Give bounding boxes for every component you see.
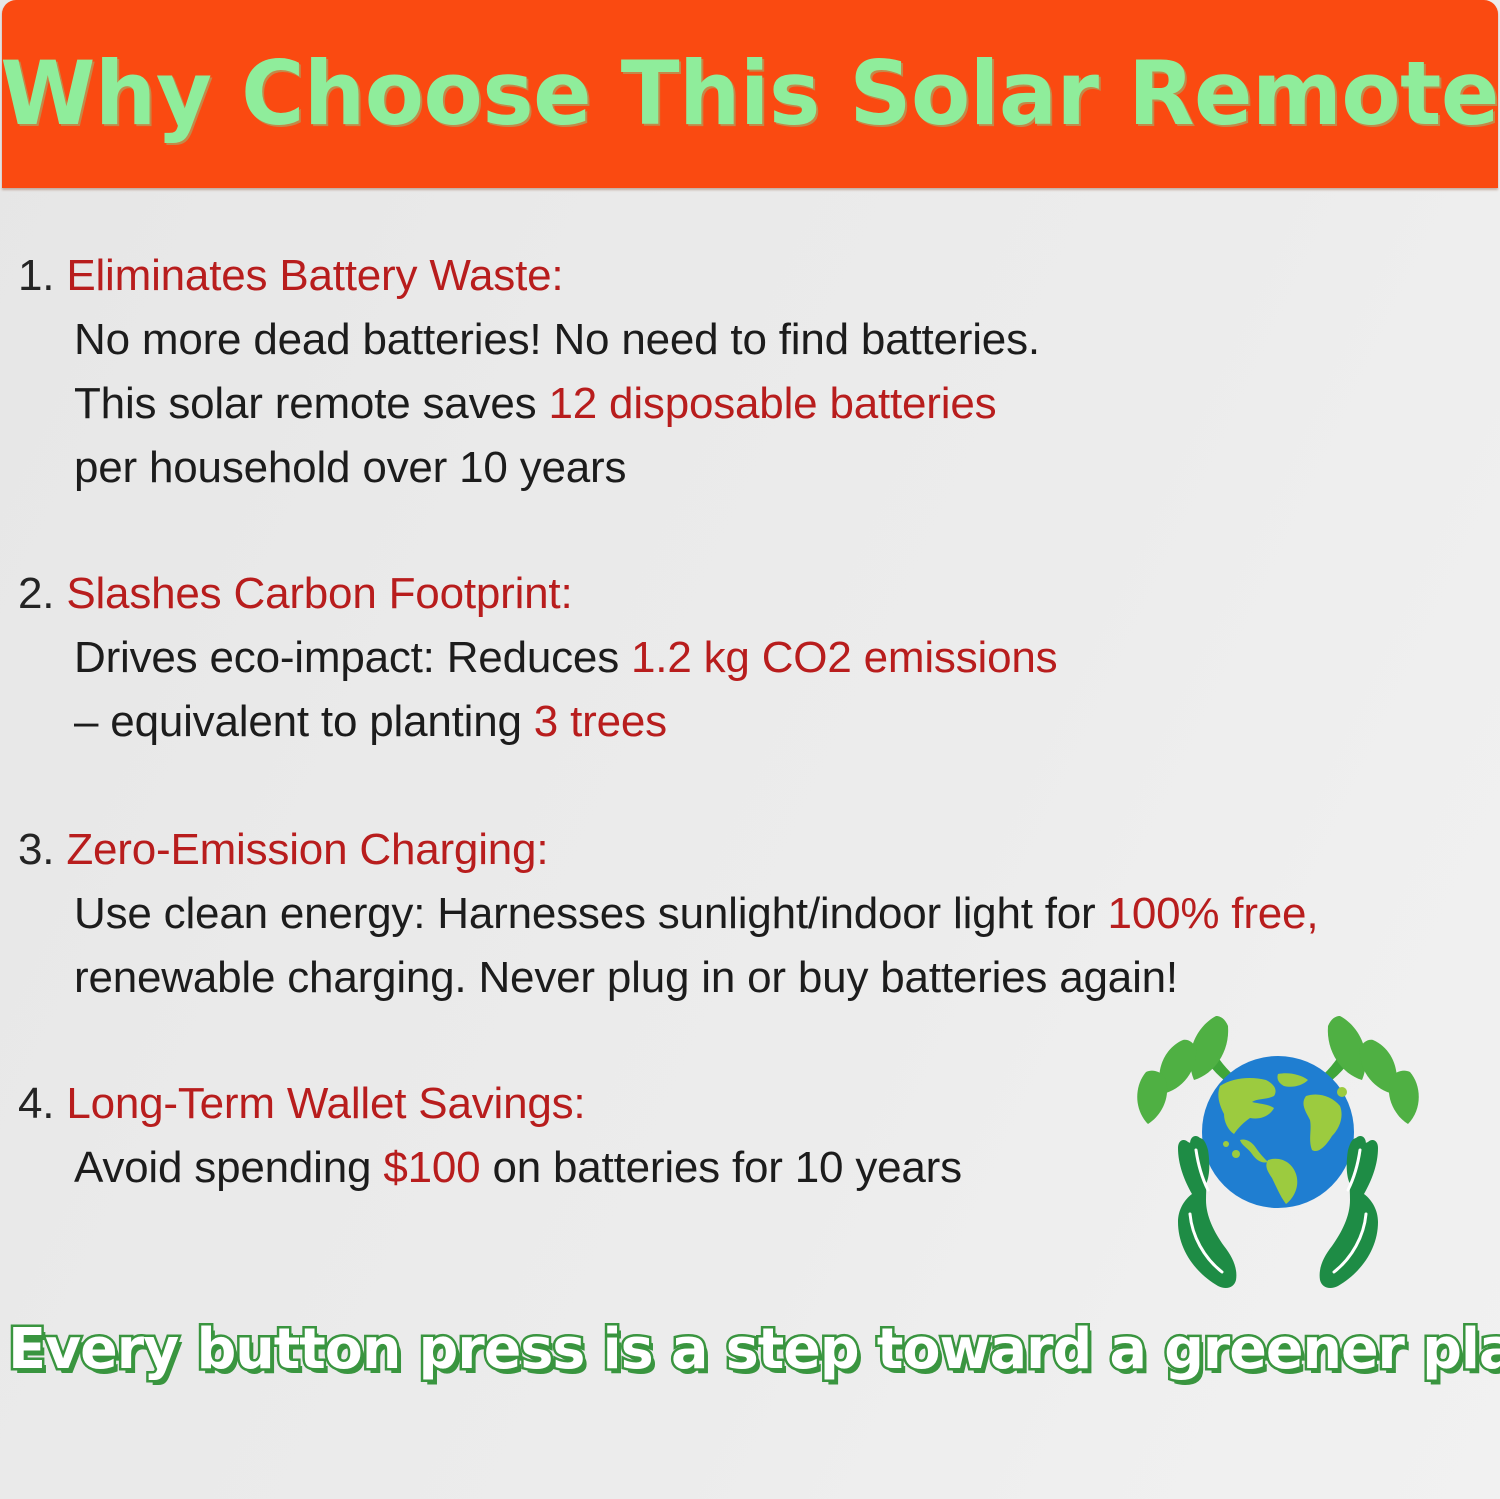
benefit-highlight: 100% free, [1108,889,1319,938]
benefit-text: – equivalent to planting [74,697,534,746]
benefit-number: 1. [18,251,54,300]
benefit-heading-text: Zero-Emission Charging: [66,825,548,874]
benefit-item-3: 3. Zero-Emission Charging: Use clean ene… [18,818,1488,1010]
benefit-number: 3. [18,825,54,874]
benefit-text: renewable charging. Never plug in or buy… [74,953,1178,1002]
header-banner: Why Choose This Solar Remote [2,0,1498,188]
benefit-heading: 1. Eliminates Battery Waste: [18,244,1488,308]
benefit-heading-text: Eliminates Battery Waste: [66,251,563,300]
benefit-line: No more dead batteries! No need to find … [18,308,1488,372]
benefit-line: Use clean energy: Harnesses sunlight/ind… [18,882,1488,946]
page-title: Why Choose This Solar Remote [1,50,1500,138]
footer-tagline: Every button press is a step toward a gr… [0,1318,1500,1382]
benefit-text: This solar remote saves [74,379,548,428]
benefit-number: 4. [18,1079,54,1128]
benefit-heading: 2. Slashes Carbon Footprint: [18,562,1488,626]
benefit-line: renewable charging. Never plug in or buy… [18,946,1488,1010]
earth-in-hands-icon [1128,1004,1428,1294]
benefit-heading-text: Slashes Carbon Footprint: [66,569,572,618]
footer-tagline-text: Every button press is a step toward a gr… [8,1318,1500,1382]
benefit-highlight: 1.2 kg CO2 emissions [631,633,1057,682]
globe-icon [1202,1056,1354,1208]
benefit-item-2: 2. Slashes Carbon Footprint: Drives eco-… [18,562,1488,754]
infographic-poster: Why Choose This Solar Remote 1. Eliminat… [0,0,1500,1499]
benefits-list: 1. Eliminates Battery Waste: No more dea… [0,188,1500,1499]
benefit-line: – equivalent to planting 3 trees [18,690,1488,754]
benefit-text: Avoid spending [74,1143,383,1192]
benefit-text: per household over 10 years [74,443,626,492]
benefit-text: on batteries for 10 years [480,1143,962,1192]
benefit-heading-text: Long-Term Wallet Savings: [66,1079,585,1128]
benefit-text: Drives eco-impact: Reduces [74,633,631,682]
benefit-highlight: 12 disposable batteries [548,379,996,428]
benefit-text: No more dead batteries! No need to find … [74,315,1040,364]
benefit-line: per household over 10 years [18,436,1488,500]
benefit-line: This solar remote saves 12 disposable ba… [18,372,1488,436]
benefit-heading: 3. Zero-Emission Charging: [18,818,1488,882]
benefit-highlight: $100 [383,1143,480,1192]
benefit-number: 2. [18,569,54,618]
benefit-item-1: 1. Eliminates Battery Waste: No more dea… [18,244,1488,500]
benefit-text: Use clean energy: Harnesses sunlight/ind… [74,889,1108,938]
benefit-highlight: 3 trees [534,697,667,746]
benefit-line: Drives eco-impact: Reduces 1.2 kg CO2 em… [18,626,1488,690]
